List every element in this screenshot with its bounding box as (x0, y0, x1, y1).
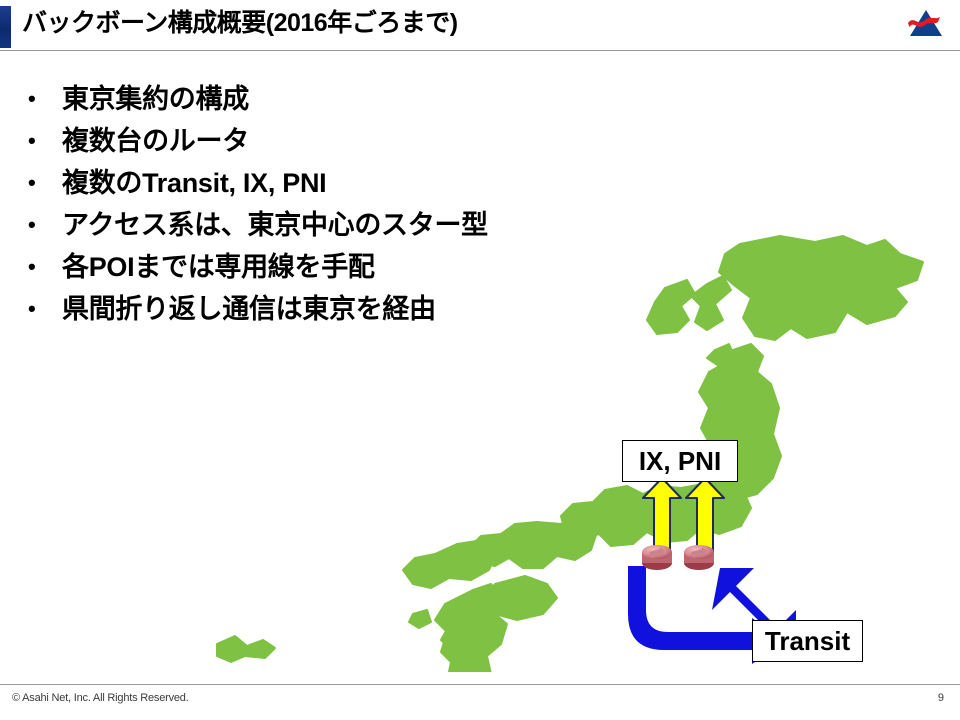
bullet-text: 複数のTransit, IX, PNI (62, 162, 326, 204)
slide-title-bar: バックボーン構成概要(2016年ごろまで) (0, 0, 960, 50)
bullet-marker: • (28, 120, 62, 162)
node-label: IX, PNI (639, 446, 721, 477)
title-accent-bar (0, 6, 11, 48)
list-item: • 複数のTransit, IX, PNI (28, 162, 668, 204)
bullet-marker: • (28, 78, 62, 120)
bullet-marker: • (28, 204, 62, 246)
bullet-marker: • (28, 288, 62, 330)
bullet-text: 東京集約の構成 (62, 78, 249, 120)
router-icon (640, 542, 674, 572)
bullet-marker: • (28, 246, 62, 288)
node-label: Transit (765, 626, 850, 657)
footer-divider (0, 684, 960, 685)
list-item: • 東京集約の構成 (28, 78, 668, 120)
page-number: 9 (938, 692, 944, 704)
bullet-text: 複数台のルータ (62, 120, 249, 162)
page-title: バックボーン構成概要(2016年ごろまで) (22, 7, 458, 39)
bullet-marker: • (28, 162, 62, 204)
footer-copyright: © Asahi Net, Inc. All Rights Reserved. (12, 692, 189, 704)
list-item: • 複数台のルータ (28, 120, 668, 162)
node-box-ix-pni: IX, PNI (622, 440, 738, 482)
router-icon (682, 542, 716, 572)
title-divider (0, 50, 960, 51)
asahi-net-logo-icon (904, 6, 948, 40)
node-box-transit: Transit (752, 620, 863, 662)
japan-map-illustration (195, 232, 935, 672)
